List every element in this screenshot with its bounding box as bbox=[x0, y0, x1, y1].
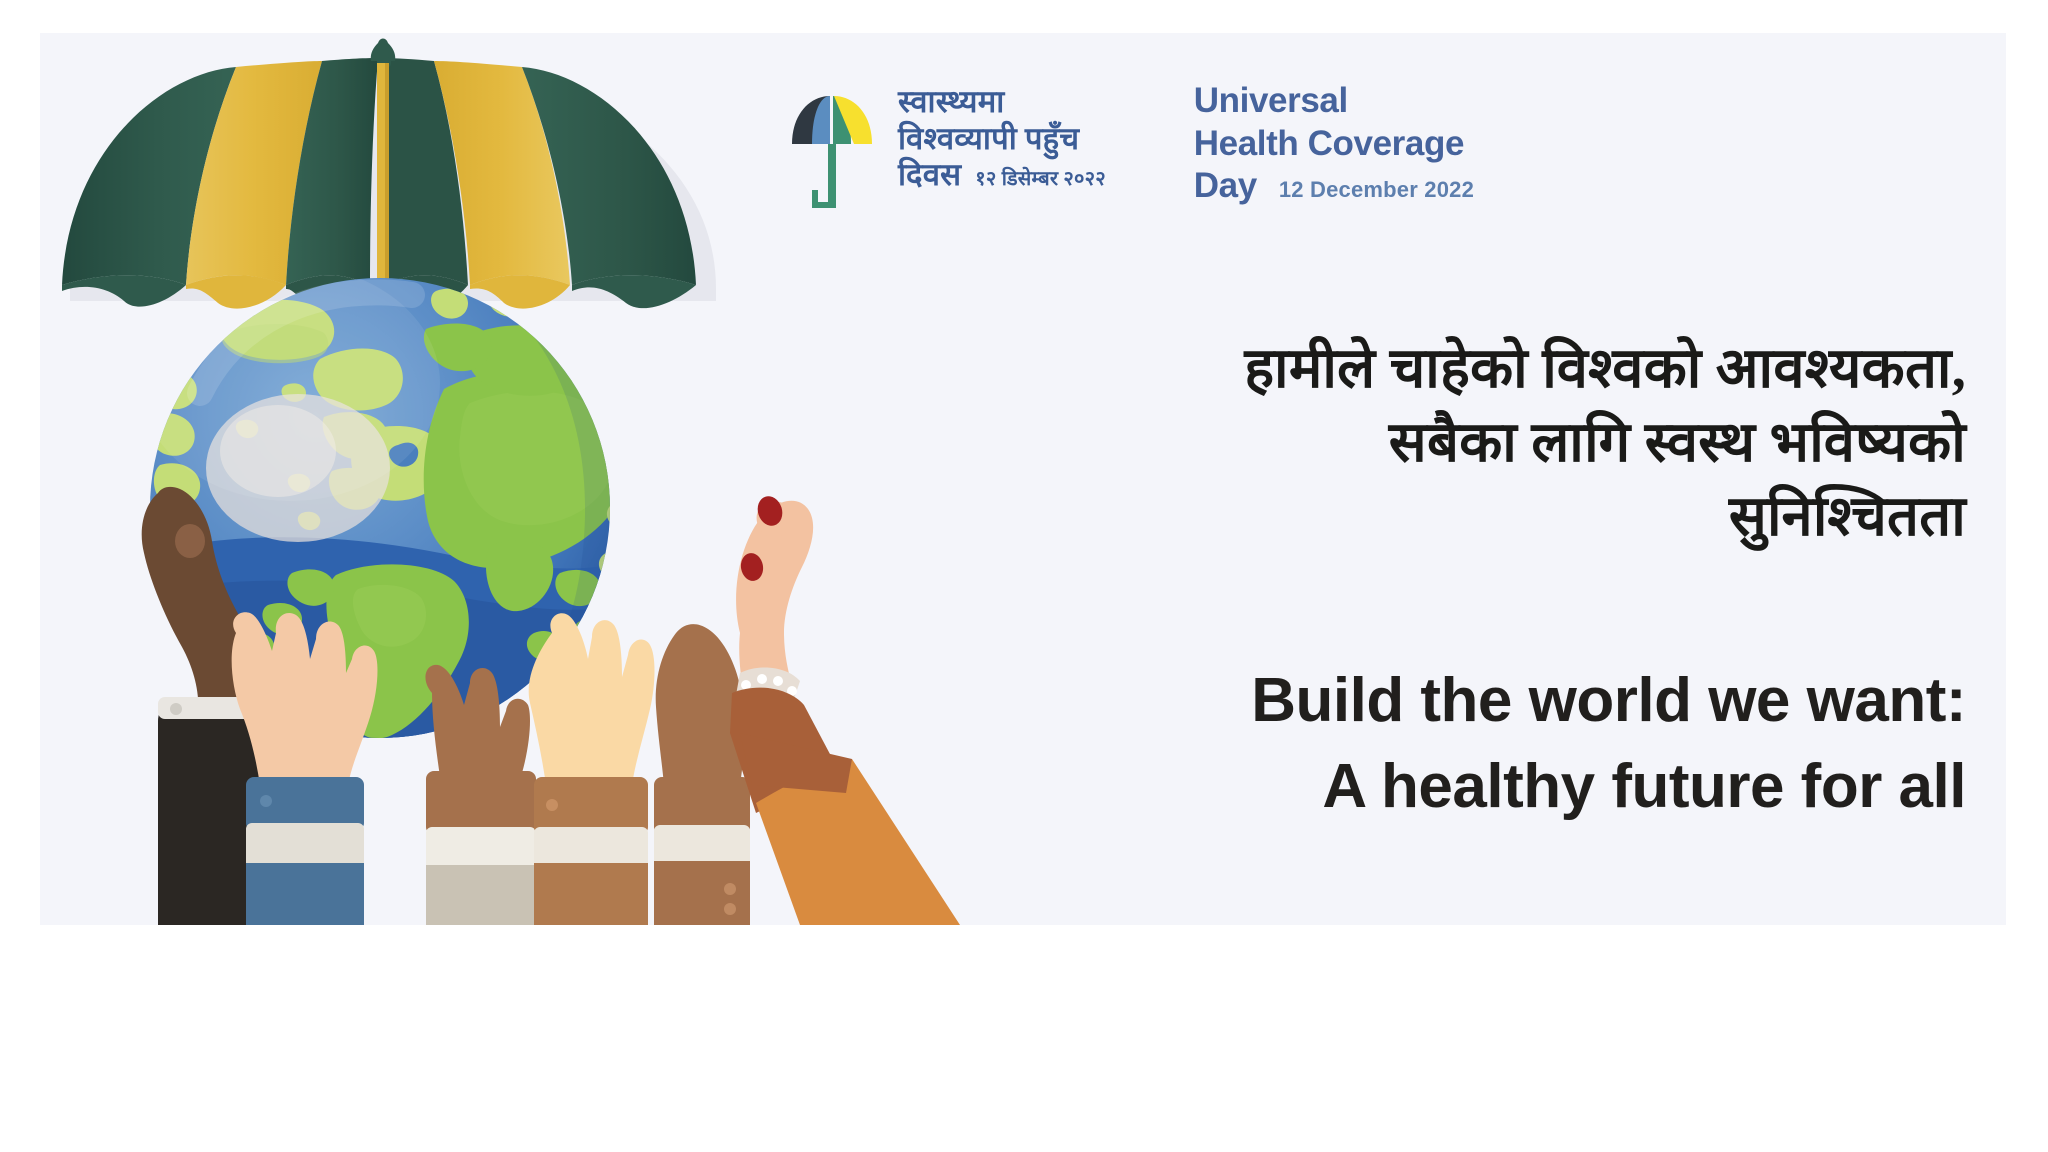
hand-tan-right bbox=[654, 624, 750, 925]
logo-nepali-line1: स्वास्थ्यमा bbox=[898, 84, 1106, 121]
logo-english-line1: Universal bbox=[1194, 80, 1474, 123]
headline-nepali-line3: सुनिश्चितता bbox=[776, 481, 1966, 555]
logo-nepali-line3: दिवस bbox=[898, 157, 961, 194]
poster-canvas: स्वास्थ्यमा विश्वव्यापी पहुँच दिवस १२ डि… bbox=[40, 33, 2006, 925]
hand-pale-right bbox=[529, 613, 655, 925]
tagline-english-line2: A healthy future for all bbox=[776, 744, 1966, 830]
logo-nepali-line2: विश्वव्यापी पहुँच bbox=[898, 121, 1106, 158]
headline-nepali: हामीले चाहेको विश्वको आवश्यकता, सबैका ला… bbox=[776, 333, 1966, 555]
tagline-english-line1: Build the world we want: bbox=[776, 658, 1966, 744]
logo-nepali-date: १२ डिसेम्बर २०२२ bbox=[975, 168, 1106, 192]
logo-english-line2: Health Coverage bbox=[1194, 123, 1474, 166]
logo-english-line3: Day bbox=[1194, 165, 1257, 208]
umbrella-logo-icon bbox=[790, 90, 876, 208]
headline-nepali-line1: हामीले चाहेको विश्वको आवश्यकता, bbox=[776, 333, 1966, 407]
headline-nepali-line2: सबैका लागि स्वस्थ भविष्यको bbox=[776, 407, 1966, 481]
logo-lockup: स्वास्थ्यमा विश्वव्यापी पहुँच दिवस १२ डि… bbox=[740, 78, 2006, 218]
hand-medium-center bbox=[425, 665, 536, 925]
logo-nepali-text: स्वास्थ्यमा विश्वव्यापी पहुँच दिवस १२ डि… bbox=[898, 84, 1106, 194]
logo-english-text: Universal Health Coverage Day 12 Decembe… bbox=[1194, 80, 1474, 208]
tagline-english: Build the world we want: A healthy futur… bbox=[776, 658, 1966, 829]
content-column: स्वास्थ्यमा विश्वव्यापी पहुँच दिवस १२ डि… bbox=[740, 33, 2006, 925]
logo-english-date: 12 December 2022 bbox=[1279, 177, 1474, 204]
